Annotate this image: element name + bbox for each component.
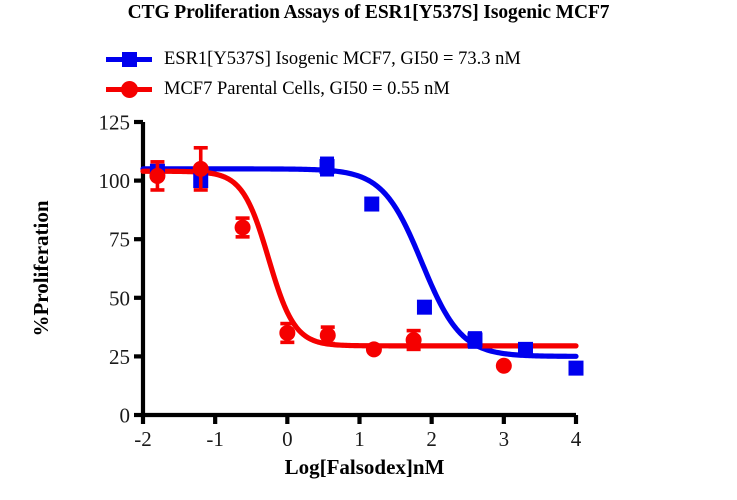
data-point-circle — [406, 332, 422, 348]
chart-canvas: 0255075100125-2-101234Log[Falsodex]nM%Pr… — [0, 0, 737, 500]
y-tick-label: 0 — [120, 404, 131, 428]
data-point-circle — [366, 341, 382, 357]
data-point-circle — [149, 168, 165, 184]
x-tick-label: 0 — [282, 427, 293, 451]
x-tick-label: -2 — [134, 427, 152, 451]
fit-curve-series-1 — [143, 169, 576, 356]
chart-figure: CTG Proliferation Assays of ESR1[Y537S] … — [0, 0, 737, 500]
data-point-square — [467, 332, 482, 347]
data-point-circle — [320, 327, 336, 343]
x-axis-label: Log[Falsodex]nM — [285, 455, 445, 479]
x-tick-label: 4 — [571, 427, 582, 451]
fit-curve-series-2 — [143, 171, 576, 346]
plot-area: 0255075100125-2-101234Log[Falsodex]nM%Pr… — [0, 0, 737, 500]
data-point-square — [569, 361, 584, 376]
data-point-square — [320, 159, 335, 174]
x-tick-label: 3 — [499, 427, 510, 451]
x-tick-label: 1 — [354, 427, 365, 451]
x-tick-label: -1 — [206, 427, 224, 451]
y-tick-label: 50 — [109, 286, 130, 310]
x-tick-label: 2 — [426, 427, 437, 451]
data-point-circle — [193, 161, 209, 177]
series-1-points — [150, 158, 584, 375]
y-axis-label: %Proliferation — [29, 200, 53, 336]
data-point-square — [518, 342, 533, 357]
y-tick-label: 25 — [109, 345, 130, 369]
y-tick-label: 100 — [99, 169, 131, 193]
y-tick-label: 75 — [109, 228, 130, 252]
data-point-circle — [279, 325, 295, 341]
data-point-circle — [496, 358, 512, 374]
y-tick-label: 125 — [99, 111, 131, 135]
data-point-square — [417, 300, 432, 315]
data-point-circle — [235, 219, 251, 235]
data-point-square — [364, 197, 379, 212]
